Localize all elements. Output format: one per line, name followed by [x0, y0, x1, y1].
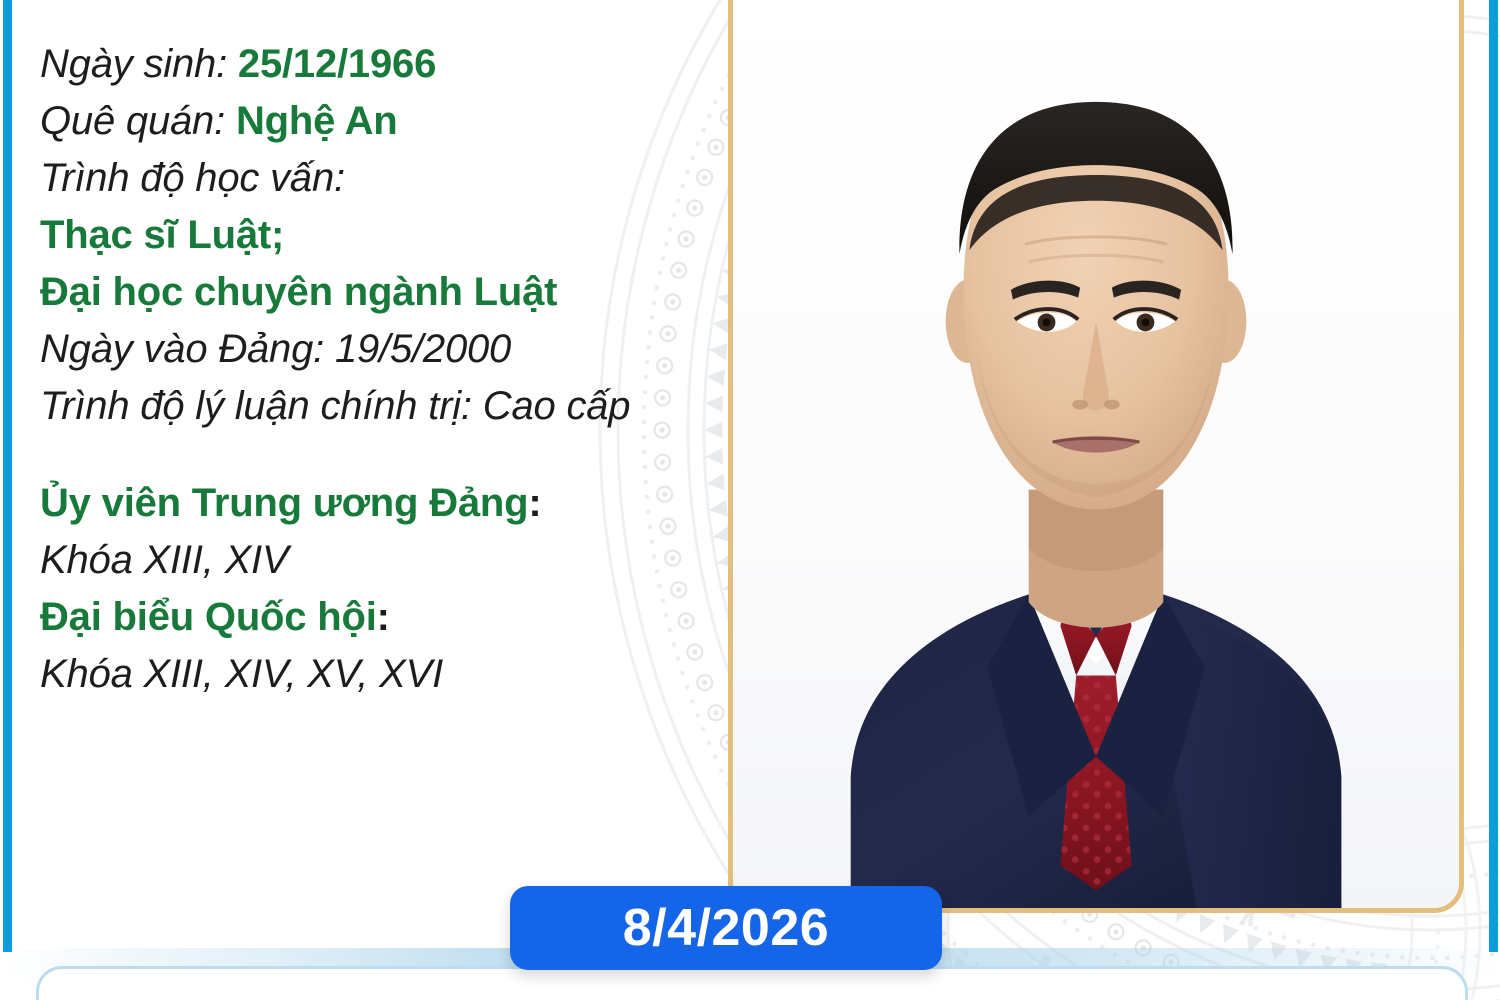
political-theory-line: Trình độ lý luận chính trị: Cao cấp: [40, 378, 700, 435]
national-assembly-colon: :: [377, 595, 390, 639]
date-badge: 8/4/2026: [510, 886, 942, 970]
education-label: Trình độ học vấn:: [40, 156, 345, 200]
birth-label: Ngày sinh:: [40, 42, 227, 86]
hometown-line: Quê quán: Nghệ An: [40, 93, 700, 150]
central-committee-label: Ủy viên Trung ương Đảng: [40, 481, 528, 525]
national-assembly-label: Đại biểu Quốc hội: [40, 595, 377, 639]
bottom-band-frame: [36, 966, 1468, 1000]
education-value-line-1: Thạc sĩ Luật;: [40, 207, 700, 264]
birth-value: 25/12/1966: [238, 42, 436, 86]
party-join-line: Ngày vào Đảng: 19/5/2000: [40, 321, 700, 378]
portrait-photo: [733, 0, 1459, 908]
right-accent-bar: [1489, 0, 1498, 952]
date-badge-text: 8/4/2026: [623, 902, 829, 954]
hometown-value: Nghệ An: [236, 99, 398, 143]
national-assembly-label-line: Đại biểu Quốc hội:: [40, 589, 700, 646]
hometown-label: Quê quán:: [40, 99, 225, 143]
education-value-line-2: Đại học chuyên ngành Luật: [40, 264, 700, 321]
central-committee-value: Khóa XIII, XIV: [40, 532, 700, 589]
section-gap: [40, 435, 700, 475]
infographic-canvas: Ngày sinh: 25/12/1966 Quê quán: Nghệ An …: [0, 0, 1500, 1000]
portrait-frame: [728, 0, 1464, 913]
left-accent-bar: [3, 0, 12, 952]
profile-text-column: Ngày sinh: 25/12/1966 Quê quán: Nghệ An …: [40, 36, 700, 703]
central-committee-colon: :: [528, 481, 541, 525]
central-committee-label-line: Ủy viên Trung ương Đảng:: [40, 475, 700, 532]
birth-line: Ngày sinh: 25/12/1966: [40, 36, 700, 93]
education-label-line: Trình độ học vấn:: [40, 150, 700, 207]
national-assembly-value: Khóa XIII, XIV, XV, XVI: [40, 646, 700, 703]
